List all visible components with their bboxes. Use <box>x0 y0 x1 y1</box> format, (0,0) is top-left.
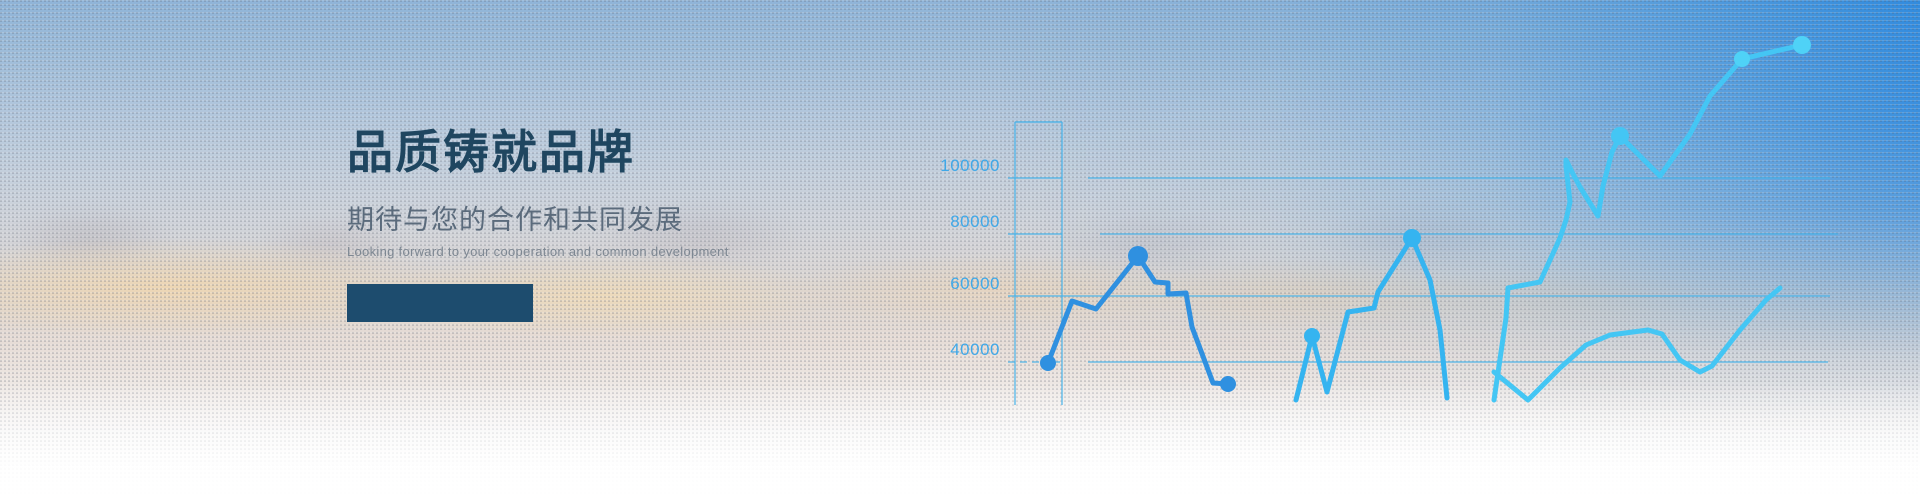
cta-button[interactable] <box>347 284 533 322</box>
subtitle-english: Looking forward to your cooperation and … <box>347 244 907 261</box>
page-title: 品质铸就品牌 <box>347 127 907 178</box>
background-blue-overlay <box>0 0 1920 500</box>
hero-copy-block: 品质铸就品牌 期待与您的合作和共同发展 Looking forward to y… <box>347 127 907 322</box>
subtitle-chinese: 期待与您的合作和共同发展 <box>347 204 907 236</box>
hero-banner: 100000800006000040000 品质铸就品牌 期待与您的合作和共同发… <box>0 0 1920 500</box>
